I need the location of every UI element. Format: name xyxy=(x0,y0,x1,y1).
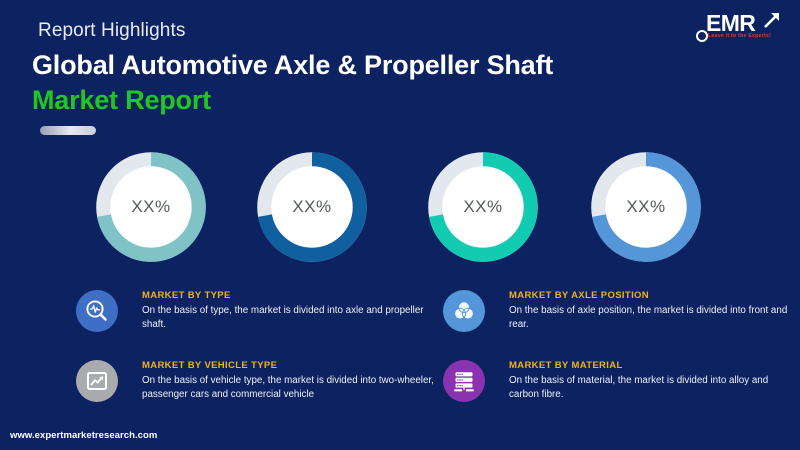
donut-chart-row: XX% XX% XX% XX% xyxy=(0,148,800,276)
logo-tagline: Leave it to the Experts! xyxy=(708,33,771,39)
donut-label-3: XX% xyxy=(424,148,542,266)
feature-body: On the basis of type, the market is divi… xyxy=(142,304,436,332)
donut-chart-2: XX% xyxy=(253,148,371,266)
venn-diagram-icon xyxy=(443,290,485,332)
page-kicker: Report Highlights xyxy=(38,20,185,42)
server-rack-icon xyxy=(443,360,485,402)
feature-body: On the basis of material, the market is … xyxy=(509,374,793,402)
feature-market-by-material: MARKET BY MATERIAL On the basis of mater… xyxy=(443,360,793,402)
donut-chart-3: XX% xyxy=(424,148,542,266)
footer-url[interactable]: www.expertmarketresearch.com xyxy=(10,430,157,441)
feature-market-by-type: MARKET BY TYPE On the basis of type, the… xyxy=(76,290,436,332)
feature-heading: MARKET BY VEHICLE TYPE xyxy=(142,360,436,371)
feature-body: On the basis of vehicle type, the market… xyxy=(142,374,436,402)
donut-label-2: XX% xyxy=(253,148,371,266)
donut-label-1: XX% xyxy=(92,148,210,266)
emr-logo: EMR Leave it to the Experts! xyxy=(694,8,786,48)
feature-heading: MARKET BY TYPE xyxy=(142,290,436,301)
title-underline-bar xyxy=(40,126,96,135)
feature-body: On the basis of axle position, the marke… xyxy=(509,304,793,332)
donut-chart-4: XX% xyxy=(587,148,705,266)
feature-market-by-vehicle-type: MARKET BY VEHICLE TYPE On the basis of v… xyxy=(76,360,436,402)
donut-label-4: XX% xyxy=(587,148,705,266)
feature-heading: MARKET BY AXLE POSITION xyxy=(509,290,793,301)
donut-chart-1: XX% xyxy=(92,148,210,266)
feature-heading: MARKET BY MATERIAL xyxy=(509,360,793,371)
page-title-line2: Market Report xyxy=(32,85,211,116)
page-title-line1: Global Automotive Axle & Propeller Shaft xyxy=(32,50,553,81)
magnifier-pulse-icon xyxy=(76,290,118,332)
arrow-up-right-icon xyxy=(760,8,784,32)
chart-frame-icon xyxy=(76,360,118,402)
feature-market-by-axle-position: MARKET BY AXLE POSITION On the basis of … xyxy=(443,290,793,332)
